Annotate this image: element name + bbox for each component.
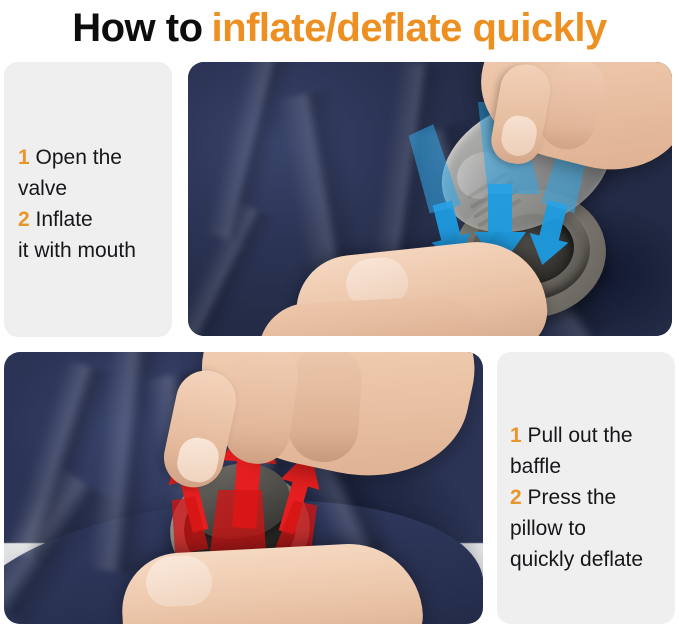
inflate-photo — [188, 62, 672, 336]
inflate-step-1-line-1: 1 Open the — [18, 142, 136, 173]
deflate-step-2-text-a: Press the — [528, 486, 617, 509]
title-prefix: How to — [72, 6, 202, 50]
deflate-step-1-line-2: baffle — [510, 451, 643, 482]
thumbnail — [145, 554, 214, 607]
inflate-step-1-text-a: Open the — [36, 146, 122, 169]
inflate-step-2-line-1: 2 Inflate — [18, 204, 136, 235]
inflate-step-2-line-2: it with mouth — [18, 235, 136, 266]
deflate-step-2-line-1: 2 Press the — [510, 482, 643, 513]
deflate-photo — [4, 352, 483, 624]
deflate-step-1-line-1: 1 Pull out the — [510, 420, 643, 451]
page-title: How toinflate/deflate quickly — [0, 0, 679, 56]
deflate-step-1-text-a: Pull out the — [528, 424, 633, 447]
inflate-step-2-number: 2 — [18, 208, 30, 231]
deflate-step-2-number: 2 — [510, 486, 522, 509]
inflate-step-1-number: 1 — [18, 146, 30, 169]
inflate-step-2-text-a: Inflate — [36, 208, 93, 231]
inflate-steps: 1 Open the valve 2 Inflate it with mouth — [18, 142, 136, 266]
inflate-step-1-line-2: valve — [18, 173, 136, 204]
title-highlight: inflate/deflate quickly — [212, 6, 607, 50]
deflate-step-1-number: 1 — [510, 424, 522, 447]
deflate-step-2-line-3: quickly deflate — [510, 544, 643, 575]
deflate-steps: 1 Pull out the baffle 2 Press the pillow… — [510, 420, 643, 575]
deflate-step-2-line-2: pillow to — [510, 513, 643, 544]
